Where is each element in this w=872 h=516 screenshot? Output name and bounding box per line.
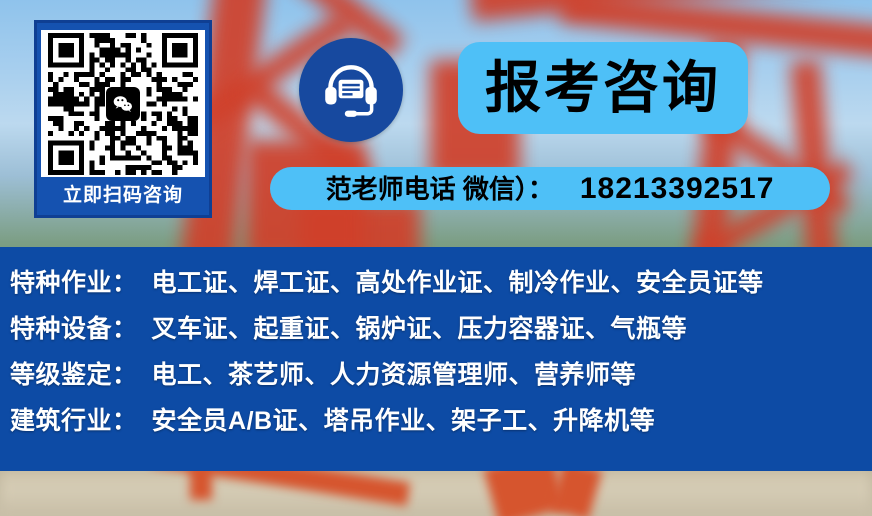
contact-label: 范老师电话 微信）： xyxy=(326,176,554,202)
qr-code-label: 立即扫码咨询 xyxy=(63,177,183,215)
service-row: 特种设备： 叉车证、起重证、锅炉证、压力容器证、气瓶等 xyxy=(10,309,872,355)
service-category: 特种作业： xyxy=(10,263,138,299)
service-category: 建筑行业： xyxy=(10,401,138,437)
wechat-icon xyxy=(106,87,140,121)
qr-code-card[interactable]: 立即扫码咨询 xyxy=(34,20,212,218)
promo-poster: 立即扫码咨询 报考咨询 范老师电话 微信）： 18213392517 特种作业：… xyxy=(0,0,872,516)
service-items: 安全员A/B证、塔吊作业、架子工、升降机等 xyxy=(152,401,656,437)
services-panel: 特种作业： 电工证、焊工证、高处作业证、制冷作业、安全员证等 特种设备： 叉车证… xyxy=(0,247,872,471)
service-items: 电工、茶艺师、人力资源管理师、营养师等 xyxy=(152,355,637,391)
service-category: 等级鉴定： xyxy=(10,355,138,391)
headline-text: 报考咨询 xyxy=(485,60,721,116)
service-category: 特种设备： xyxy=(10,309,138,345)
contact-pill[interactable]: 范老师电话 微信）： 18213392517 xyxy=(270,167,830,210)
service-items: 叉车证、起重证、锅炉证、压力容器证、气瓶等 xyxy=(152,309,688,345)
background-ground-detail xyxy=(0,470,872,516)
service-row: 建筑行业： 安全员A/B证、塔吊作业、架子工、升降机等 xyxy=(10,401,872,447)
service-items: 电工证、焊工证、高处作业证、制冷作业、安全员证等 xyxy=(152,263,764,299)
service-row: 特种作业： 电工证、焊工证、高处作业证、制冷作业、安全员证等 xyxy=(10,263,872,309)
headline-pill: 报考咨询 xyxy=(458,42,748,134)
service-row: 等级鉴定： 电工、茶艺师、人力资源管理师、营养师等 xyxy=(10,355,872,401)
contact-phone-number[interactable]: 18213392517 xyxy=(580,174,775,204)
qr-code-image[interactable] xyxy=(41,30,205,177)
headset-support-icon xyxy=(299,38,403,142)
